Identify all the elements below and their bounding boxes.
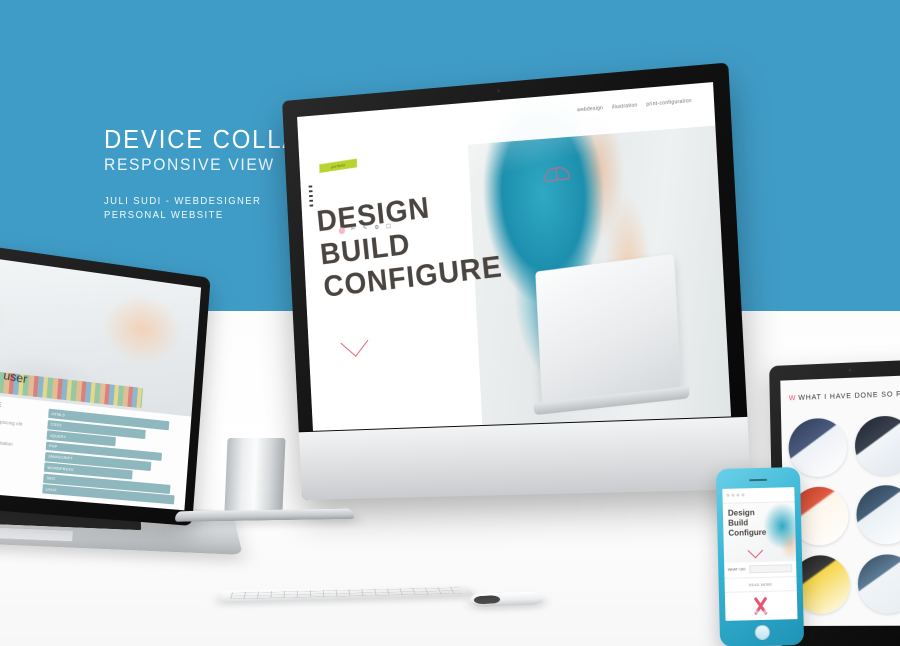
form-label: WHAT I DO bbox=[728, 568, 746, 572]
read-more-label: READ MORE bbox=[749, 582, 772, 587]
mobile-icon[interactable]: ☐ bbox=[385, 224, 392, 231]
iphone-speaker bbox=[749, 479, 767, 481]
imac-bezel: webdesignillustrationprint-configuration… bbox=[282, 62, 751, 499]
scissors-icon[interactable]: ✄ bbox=[350, 226, 357, 233]
iphone-screen: Design Build Configure WHAT I DO READ MO… bbox=[722, 487, 797, 621]
nav-link-1[interactable]: illustration bbox=[612, 103, 638, 111]
skills-paragraph-1: Lorem ipsum dolor sit amet, consectetur … bbox=[0, 408, 30, 437]
ipad-section-title: WWHAT I HAVE DONE SO FAR bbox=[789, 390, 900, 402]
form-input[interactable] bbox=[749, 564, 792, 573]
skill-bar-label: JAVASCRIPT bbox=[48, 455, 73, 461]
pencil-icon[interactable]: ✎ bbox=[362, 225, 369, 232]
iphone-device: Design Build Configure WHAT I DO READ MO… bbox=[716, 467, 804, 646]
skill-bar-label: JQUERY bbox=[50, 433, 67, 439]
nav-link-list: webdesignillustrationprint-configuration bbox=[577, 98, 692, 113]
macbook-device: s of my work are high user e and quality… bbox=[0, 276, 252, 576]
dot-icon[interactable] bbox=[338, 227, 345, 234]
nav-dot-icon[interactable] bbox=[726, 494, 729, 497]
nav-dot-icon[interactable] bbox=[731, 494, 734, 497]
nav-dot-icon[interactable] bbox=[741, 494, 744, 497]
nav-link-0[interactable]: webdesign bbox=[577, 106, 603, 114]
portfolio-thumb-6[interactable] bbox=[858, 554, 900, 614]
sidebar-marks bbox=[308, 185, 313, 206]
website-hero-page: webdesignillustrationprint-configuration… bbox=[297, 82, 731, 431]
iphone-home-button[interactable] bbox=[754, 625, 769, 640]
portfolio-thumb-1[interactable] bbox=[788, 418, 847, 478]
device-collage-poster: DEVICE COLLAGE RESPONSIVE VIEW JULI SUDI… bbox=[0, 0, 900, 646]
green-portfolio-tab[interactable]: portfolio bbox=[319, 158, 357, 172]
skill-bar-label: HTML5 bbox=[51, 412, 65, 417]
skill-bar-label: UI/UX bbox=[46, 487, 57, 492]
macbook-trackpad[interactable] bbox=[0, 527, 74, 542]
gear-icon[interactable]: ⚙ bbox=[373, 225, 380, 232]
portfolio-thumbnail-grid bbox=[787, 415, 900, 616]
ipad-title-text: WHAT I HAVE DONE SO FAR bbox=[798, 390, 900, 401]
title-accent-mark: W bbox=[789, 395, 797, 402]
skill-bar-label: CSS3 bbox=[51, 423, 62, 428]
crossed-pencils-icon bbox=[751, 596, 771, 616]
imac-chin bbox=[299, 416, 752, 500]
skills-paragraphs: Lorem ipsum dolor sit amet, consectetur … bbox=[0, 408, 30, 459]
iphone-icon-zone bbox=[725, 591, 798, 620]
nav-link-2[interactable]: print-configuration bbox=[646, 98, 692, 108]
portfolio-thumb-4[interactable] bbox=[856, 485, 900, 545]
hero-laptop-prop bbox=[535, 253, 681, 402]
skill-bar-label: PHP bbox=[49, 444, 58, 449]
chevron-down-icon[interactable] bbox=[747, 543, 763, 559]
iphone-nav-bar bbox=[722, 487, 794, 503]
macbook-lid: s of my work are high user e and quality… bbox=[0, 233, 211, 526]
portfolio-thumb-2[interactable] bbox=[855, 415, 900, 476]
nav-dot-icon[interactable] bbox=[736, 494, 739, 497]
chevron-down-icon[interactable] bbox=[340, 327, 368, 357]
imac-stand-neck bbox=[224, 438, 285, 512]
skill-bar-chart: HTML5CSS3JQUERYPHPJAVASCRIPTWORDPRESSSEO… bbox=[42, 409, 179, 502]
apple-magic-mouse[interactable] bbox=[470, 591, 546, 607]
iphone-form-row: WHAT I DO bbox=[724, 561, 796, 579]
hero-headline: DESIGN BUILD CONFIGURE bbox=[315, 183, 504, 305]
iphone-headline-line-3: Configure bbox=[728, 527, 766, 538]
ipad-camera-icon bbox=[848, 369, 851, 372]
macbook-screen: s of my work are high user e and quality… bbox=[0, 246, 201, 510]
macbook-hero-photo bbox=[0, 246, 201, 416]
skill-bar-label: SEO bbox=[46, 476, 55, 481]
imac-device: webdesignillustrationprint-configuration… bbox=[268, 72, 740, 492]
iphone-hero: Design Build Configure bbox=[723, 502, 796, 563]
skill-bar-label: WORDPRESS bbox=[47, 465, 74, 472]
imac-camera-icon bbox=[496, 89, 499, 92]
iphone-headline: Design Build Configure bbox=[728, 508, 766, 538]
imac-screen: webdesignillustrationprint-configuration… bbox=[297, 82, 731, 431]
